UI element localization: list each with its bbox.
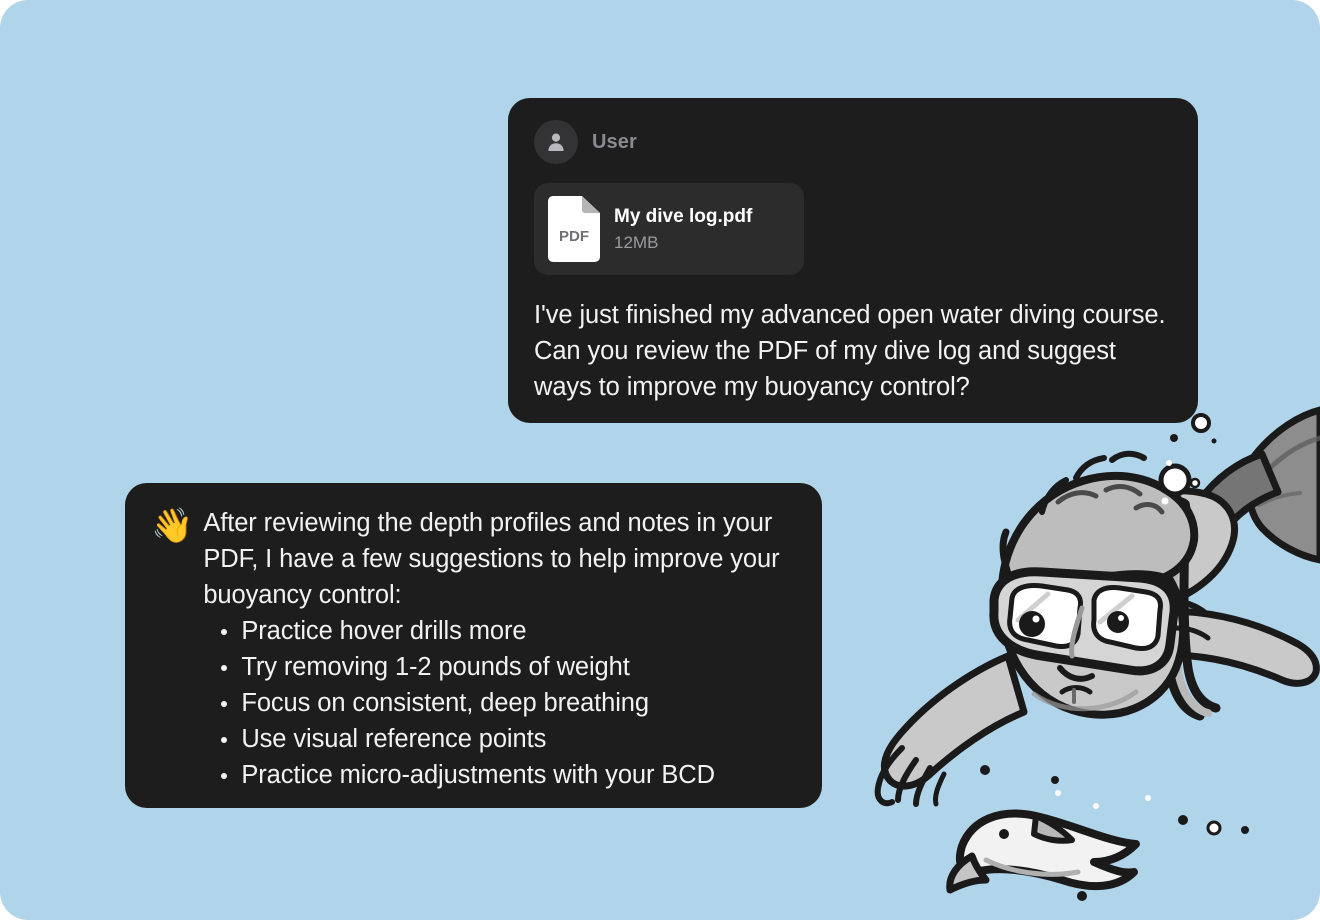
list-item: Use visual reference points (241, 721, 796, 757)
assistant-message-bubble: 👋 After reviewing the depth profiles and… (125, 483, 822, 808)
diver-left-arm (878, 656, 1024, 804)
snorkel (1166, 500, 1216, 716)
user-avatar (534, 120, 578, 164)
screenshot-canvas: User PDF My dive log.pdf 12MB I've just … (0, 0, 1320, 920)
diver-torso (1080, 410, 1320, 683)
list-item: Practice micro-adjustments with your BCD (241, 757, 796, 793)
suggestion-list: Practice hover drills more Try removing … (203, 613, 796, 793)
list-item: Focus on consistent, deep breathing (241, 685, 796, 721)
person-icon (545, 131, 567, 153)
attachment-filesize: 12MB (614, 233, 752, 253)
user-author-label: User (592, 131, 637, 154)
assistant-intro-text: After reviewing the depth profiles and n… (203, 505, 796, 613)
fish-illustration (950, 814, 1136, 890)
pdf-icon-label: PDF (559, 228, 589, 245)
attachment-filename: My dive log.pdf (614, 206, 752, 228)
pdf-file-icon: PDF (548, 196, 600, 262)
waving-hand-emoji: 👋 (151, 507, 193, 793)
air-bubbles (980, 388, 1249, 901)
diver-head (994, 454, 1208, 715)
user-message-header: User (534, 120, 1172, 164)
list-item: Practice hover drills more (241, 613, 796, 649)
list-item: Try removing 1-2 pounds of weight (241, 649, 796, 685)
user-message-bubble: User PDF My dive log.pdf 12MB I've just … (508, 98, 1198, 423)
user-message-text: I've just finished my advanced open wate… (534, 297, 1172, 405)
pdf-file-icon-glyph: PDF (548, 196, 600, 262)
pdf-attachment-card[interactable]: PDF My dive log.pdf 12MB (534, 183, 804, 275)
